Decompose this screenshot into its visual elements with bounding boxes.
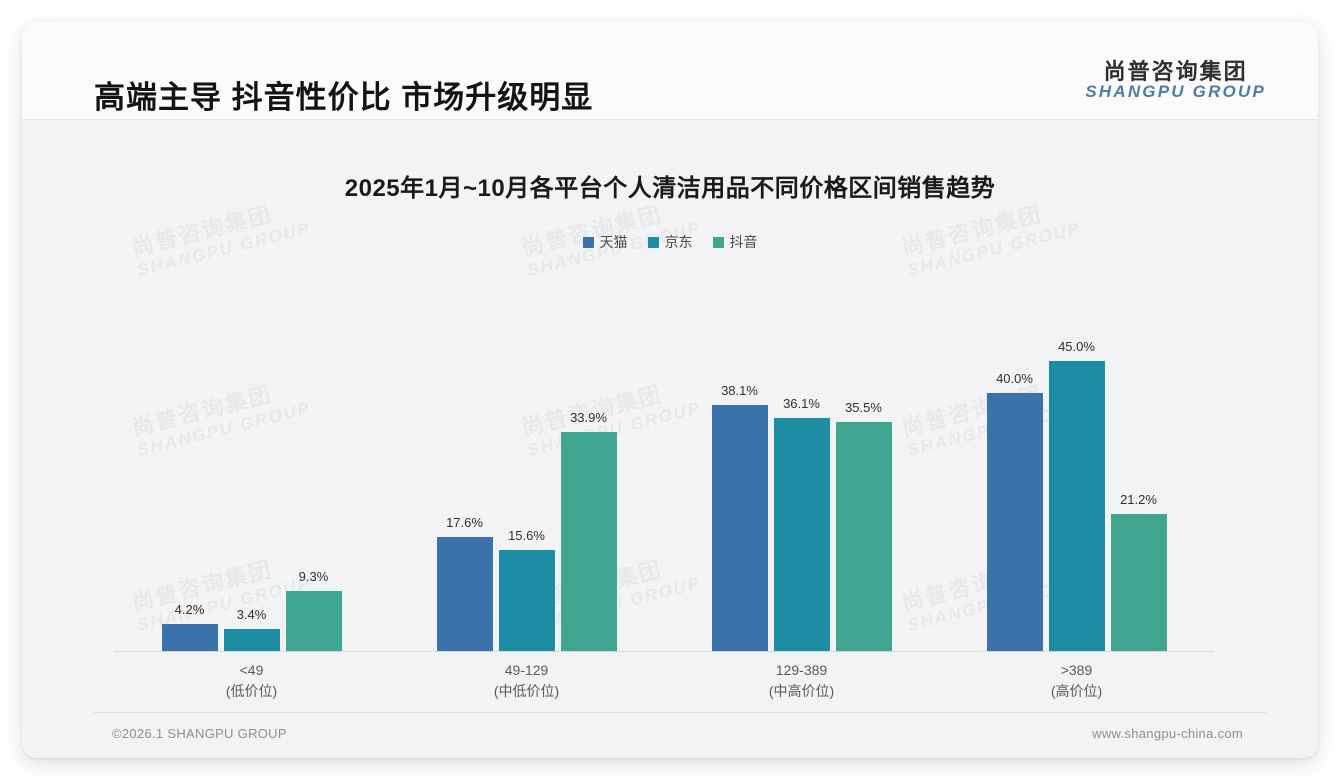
x-axis-tick-label: >389(高价位) xyxy=(939,660,1214,702)
bar-value-label: 33.9% xyxy=(570,410,607,425)
bar[interactable] xyxy=(499,550,555,651)
x-tick-range: 129-389 xyxy=(776,662,827,678)
bar-item[interactable]: 17.6% xyxy=(437,270,493,651)
legend-item-0[interactable]: 天猫 xyxy=(583,232,628,252)
bar-group: 17.6%15.6%33.9% xyxy=(389,270,664,651)
bar-item[interactable]: 35.5% xyxy=(836,270,892,651)
bar-value-label: 15.6% xyxy=(508,528,545,543)
slide-header: 高端主导 抖音性价比 市场升级明显 尚普咨询集团 SHANGPU GROUP xyxy=(22,22,1318,120)
footer-website: www.shangpu-china.com xyxy=(1092,726,1243,741)
x-axis-tick-label: 129-389(中高价位) xyxy=(664,660,939,702)
bar-item[interactable]: 15.6% xyxy=(499,270,555,651)
bar[interactable] xyxy=(836,422,892,651)
bar-item[interactable]: 36.1% xyxy=(774,270,830,651)
slide-card: 高端主导 抖音性价比 市场升级明显 尚普咨询集团 SHANGPU GROUP 尚… xyxy=(22,22,1318,758)
x-axis-labels: <49(低价位)49-129(中低价位)129-389(中高价位)>389(高价… xyxy=(114,660,1214,702)
bar-group: 40.0%45.0%21.2% xyxy=(939,270,1214,651)
bar-item[interactable]: 38.1% xyxy=(712,270,768,651)
bar-item[interactable]: 21.2% xyxy=(1111,270,1167,651)
legend-swatch-icon xyxy=(713,237,724,248)
logo-chinese-text: 尚普咨询集团 xyxy=(1085,60,1266,83)
bar-item[interactable]: 4.2% xyxy=(162,270,218,651)
bar-value-label: 35.5% xyxy=(845,400,882,415)
bar[interactable] xyxy=(561,432,617,651)
bar[interactable] xyxy=(1111,514,1167,651)
x-tick-sublabel: (中高价位) xyxy=(664,681,939,702)
bar-value-label: 36.1% xyxy=(783,396,820,411)
bar-value-label: 4.2% xyxy=(175,602,205,617)
x-tick-sublabel: (中低价位) xyxy=(389,681,664,702)
logo-english-text: SHANGPU GROUP xyxy=(1085,83,1266,101)
bar-item[interactable]: 9.3% xyxy=(286,270,342,651)
bar-value-label: 38.1% xyxy=(721,383,758,398)
chart-legend: 天猫京东抖音 xyxy=(22,232,1318,252)
bar[interactable] xyxy=(1049,361,1105,651)
bar[interactable] xyxy=(162,624,218,651)
x-axis-tick-label: <49(低价位) xyxy=(114,660,389,702)
legend-label: 抖音 xyxy=(730,232,758,252)
bar-group: 38.1%36.1%35.5% xyxy=(664,270,939,651)
page-title: 高端主导 抖音性价比 市场升级明显 xyxy=(94,72,593,117)
bar-value-label: 40.0% xyxy=(996,371,1033,386)
bar-item[interactable]: 45.0% xyxy=(1049,270,1105,651)
bar[interactable] xyxy=(774,418,830,651)
bar-item[interactable]: 40.0% xyxy=(987,270,1043,651)
x-axis-tick-label: 49-129(中低价位) xyxy=(389,660,664,702)
bar-groups: 4.2%3.4%9.3%17.6%15.6%33.9%38.1%36.1%35.… xyxy=(114,270,1214,651)
chart-title: 2025年1月~10月各平台个人清洁用品不同价格区间销售趋势 xyxy=(22,168,1318,203)
x-tick-range: 49-129 xyxy=(505,662,549,678)
bar-value-label: 3.4% xyxy=(237,607,267,622)
legend-item-2[interactable]: 抖音 xyxy=(713,232,758,252)
bar-item[interactable]: 33.9% xyxy=(561,270,617,651)
bar[interactable] xyxy=(987,393,1043,651)
brand-logo: 尚普咨询集团 SHANGPU GROUP xyxy=(1085,60,1266,101)
chart-plot-area: 4.2%3.4%9.3%17.6%15.6%33.9%38.1%36.1%35.… xyxy=(114,270,1214,652)
x-axis-line xyxy=(114,651,1214,652)
legend-label: 天猫 xyxy=(600,232,628,252)
bar[interactable] xyxy=(437,537,493,651)
bar-value-label: 21.2% xyxy=(1120,492,1157,507)
legend-item-1[interactable]: 京东 xyxy=(648,232,693,252)
bar[interactable] xyxy=(712,405,768,651)
legend-swatch-icon xyxy=(583,237,594,248)
bar-group: 4.2%3.4%9.3% xyxy=(114,270,389,651)
x-tick-range: >389 xyxy=(1061,662,1093,678)
bar-value-label: 9.3% xyxy=(299,569,329,584)
footer-divider xyxy=(94,712,1266,713)
bar-item[interactable]: 3.4% xyxy=(224,270,280,651)
bar-value-label: 17.6% xyxy=(446,515,483,530)
legend-label: 京东 xyxy=(665,232,693,252)
footer-copyright: ©2026.1 SHANGPU GROUP xyxy=(112,726,287,741)
legend-swatch-icon xyxy=(648,237,659,248)
bar[interactable] xyxy=(286,591,342,651)
x-tick-range: <49 xyxy=(240,662,264,678)
x-tick-sublabel: (低价位) xyxy=(114,681,389,702)
slide-footer: ©2026.1 SHANGPU GROUP www.shangpu-china.… xyxy=(22,712,1318,758)
bar[interactable] xyxy=(224,629,280,651)
x-tick-sublabel: (高价位) xyxy=(939,681,1214,702)
slide-body: 尚普咨询集团SHANGPU GROUP 尚普咨询集团SHANGPU GROUP … xyxy=(22,120,1318,712)
bar-value-label: 45.0% xyxy=(1058,339,1095,354)
